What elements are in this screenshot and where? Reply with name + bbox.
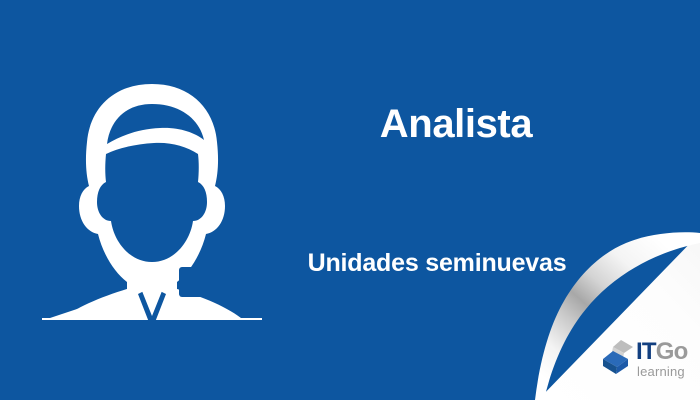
- itgo-diamond-mark: [601, 339, 635, 381]
- page-title: Analista: [270, 100, 642, 148]
- page-subtitle: Unidades seminuevas: [262, 246, 612, 280]
- course-banner: Analista Unidades seminuevas: [0, 0, 700, 400]
- logo-tagline: learning: [637, 364, 685, 379]
- logo-word-it: IT: [636, 338, 656, 365]
- logo-wordmark: ITGo: [636, 339, 687, 365]
- itgo-learning-logo: ITGo learning: [601, 339, 693, 387]
- person-analyst-icon: [42, 82, 262, 320]
- logo-word-go: Go: [656, 338, 688, 365]
